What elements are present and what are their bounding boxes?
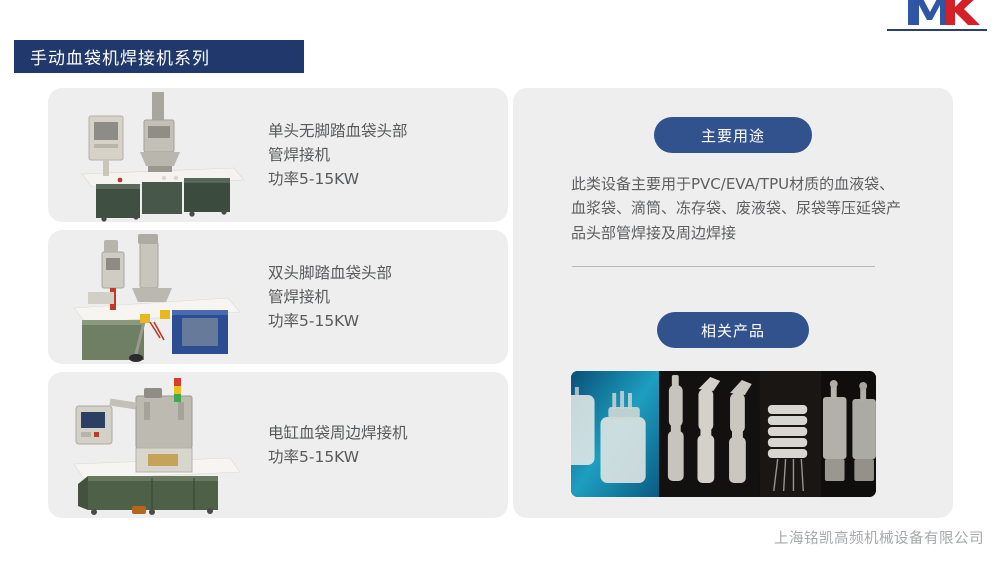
- usage-pill-label: 主要用途: [701, 125, 765, 146]
- product-line: 功率5-15KW: [268, 167, 494, 191]
- product-line: 管焊接机: [268, 143, 494, 167]
- photo-pane-connectors: [760, 371, 821, 497]
- product-line: 管焊接机: [268, 285, 494, 309]
- footer-company-name: 上海铭凯高频机械设备有限公司: [774, 527, 984, 548]
- slide-root: 手动血袋机焊接机系列: [0, 0, 1000, 562]
- product-line: 功率5-15KW: [268, 445, 494, 469]
- product-line: 双头脚踏血袋头部: [268, 261, 494, 285]
- mk-logo-icon: [888, 0, 992, 26]
- product-description: 电缸血袋周边焊接机 功率5-15KW: [268, 421, 508, 469]
- usage-description: 此类设备主要用于PVC/EVA/TPU材质的血液袋、血浆袋、滴筒、冻存袋、废液袋…: [571, 172, 901, 245]
- electric-cylinder-perimeter-welder-photo: [48, 372, 268, 518]
- logo-underline: [887, 29, 987, 31]
- blood-bag-products-photo: [571, 371, 876, 497]
- usage-pill-button[interactable]: 主要用途: [654, 117, 812, 153]
- photo-pane-drip-chambers: [659, 371, 760, 497]
- product-card[interactable]: 单头无脚踏血袋头部 管焊接机 功率5-15KW: [48, 88, 508, 222]
- section-divider: [572, 266, 875, 267]
- photo-pane-bags-with-ports: [821, 371, 876, 497]
- photo-pane-blood-bags: [571, 371, 659, 497]
- product-line: 功率5-15KW: [268, 309, 494, 333]
- product-line: 电缸血袋周边焊接机: [268, 421, 494, 445]
- company-logo: [888, 0, 992, 38]
- related-products-pill-label: 相关产品: [701, 320, 765, 341]
- double-head-pedal-welder-photo: [48, 230, 268, 364]
- product-description: 双头脚踏血袋头部 管焊接机 功率5-15KW: [268, 261, 508, 333]
- page-title: 手动血袋机焊接机系列: [30, 44, 210, 69]
- related-products-pill-button[interactable]: 相关产品: [657, 312, 809, 348]
- product-line: 单头无脚踏血袋头部: [268, 119, 494, 143]
- single-head-no-pedal-welder-photo: [48, 88, 268, 222]
- product-card-list: 单头无脚踏血袋头部 管焊接机 功率5-15KW: [48, 88, 508, 518]
- info-panel: 主要用途 此类设备主要用于PVC/EVA/TPU材质的血液袋、血浆袋、滴筒、冻存…: [513, 88, 953, 518]
- product-card[interactable]: 双头脚踏血袋头部 管焊接机 功率5-15KW: [48, 230, 508, 364]
- product-description: 单头无脚踏血袋头部 管焊接机 功率5-15KW: [268, 119, 508, 191]
- product-card[interactable]: 电缸血袋周边焊接机 功率5-15KW: [48, 372, 508, 518]
- page-title-bar: 手动血袋机焊接机系列: [14, 40, 304, 73]
